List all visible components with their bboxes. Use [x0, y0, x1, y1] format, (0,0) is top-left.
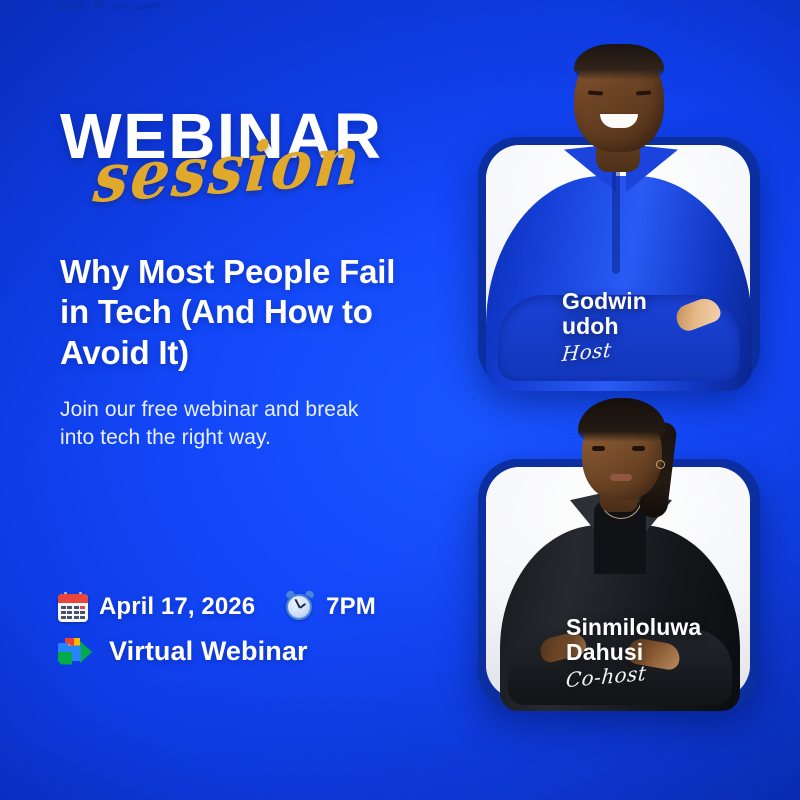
event-platform: Virtual Webinar — [109, 636, 308, 667]
speaker-2-caption: Sinmiloluwa Dahusi Co-host — [566, 615, 701, 692]
event-details: April 17, 2026 7PM — [58, 592, 438, 667]
speaker-2-role: Co-host — [565, 660, 648, 691]
event-date: April 17, 2026 — [99, 593, 255, 621]
headline: Why Most People Fail in Tech (And How to… — [60, 252, 400, 373]
poster-title: WEBINAR session — [60, 104, 450, 224]
alarm-clock-icon — [285, 592, 315, 622]
google-meet-icon — [58, 638, 92, 666]
content-column: WEBINAR session Why Most People Fail in … — [52, 0, 452, 800]
speaker-1-role: Host — [561, 337, 613, 366]
calendar-icon — [58, 592, 88, 622]
speaker-1-name: Godwin udoh — [562, 289, 647, 340]
title-session-script: session — [91, 127, 364, 213]
detail-row-platform: Virtual Webinar — [58, 636, 438, 667]
event-time: 7PM — [326, 593, 376, 621]
speaker-2-name: Sinmiloluwa Dahusi — [566, 615, 701, 666]
detail-row-date-time: April 17, 2026 7PM — [58, 592, 438, 622]
speaker-1-caption: Godwin udoh Host — [562, 289, 647, 366]
subheadline: Join our free webinar and break into tec… — [60, 396, 390, 453]
webinar-poster: WEBINAR session Why Most People Fail in … — [0, 0, 800, 800]
